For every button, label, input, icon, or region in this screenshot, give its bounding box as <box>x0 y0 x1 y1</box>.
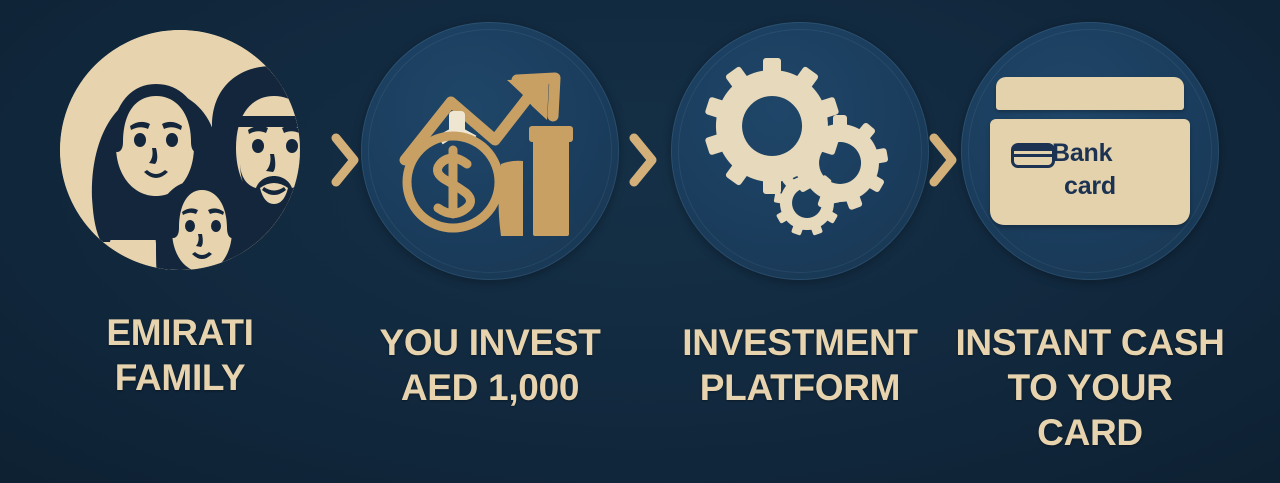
step-emirati-family[interactable]: EMIRATI FAMILY <box>45 22 315 400</box>
card-body: Bank card <box>990 119 1190 225</box>
chevron-right-icon <box>628 132 658 188</box>
card-chip-icon <box>1011 143 1055 168</box>
chevron-right-icon <box>928 132 958 188</box>
step-you-invest[interactable]: YOU INVEST AED 1,000 <box>355 22 625 410</box>
bank-card-icon: Bank card <box>961 22 1219 280</box>
bank-card-graphic: Bank card <box>990 77 1190 225</box>
step-caption: YOU INVEST AED 1,000 <box>379 320 600 410</box>
step-instant-cash[interactable]: Bank card INSTANT CASH TO YOUR CARD <box>955 22 1225 455</box>
step-caption: INSTANT CASH TO YOUR CARD <box>955 320 1225 455</box>
chevron-right-icon <box>330 132 360 188</box>
family-portrait-icon <box>60 30 300 270</box>
step-caption: INVESTMENT PLATFORM <box>682 320 917 410</box>
step-investment-platform[interactable]: INVESTMENT PLATFORM <box>665 22 935 410</box>
gears-icon <box>671 22 929 280</box>
step-caption: EMIRATI FAMILY <box>106 310 253 400</box>
card-label-line1: Bank <box>1052 137 1116 170</box>
process-steps: EMIRATI FAMILY <box>0 0 1280 483</box>
card-label: Bank card <box>1052 137 1116 202</box>
card-top-strip <box>996 77 1184 110</box>
infographic-canvas: EMIRATI FAMILY <box>0 0 1280 483</box>
card-label-line2: card <box>1052 170 1116 203</box>
growth-chart-dollar-icon <box>361 22 619 280</box>
